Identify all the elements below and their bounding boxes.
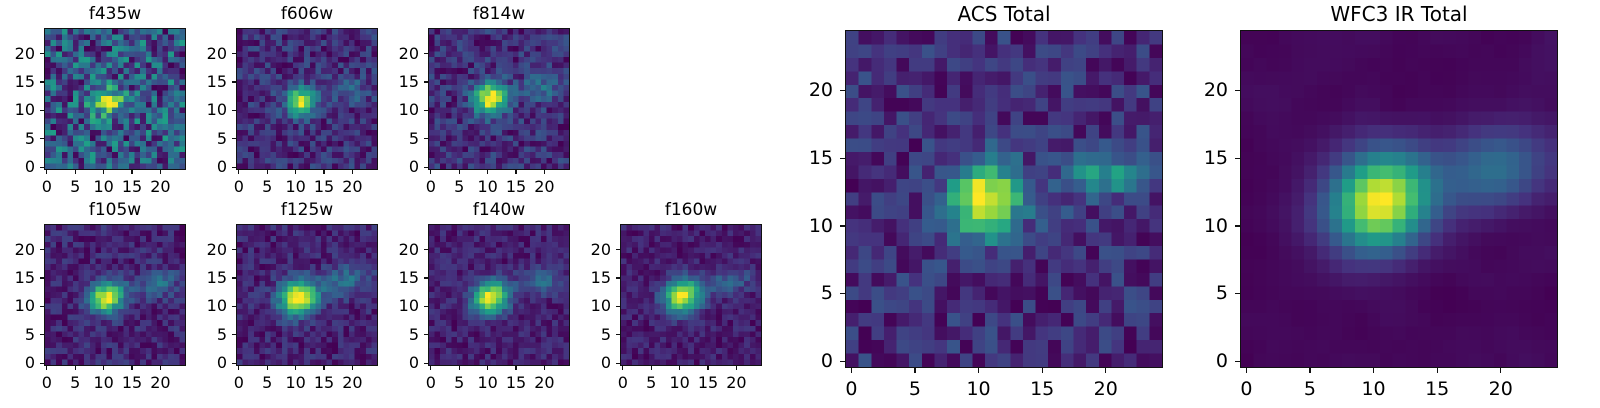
x-tick [295,170,296,174]
x-tick [352,170,353,174]
heatmap-axes [620,224,762,366]
heatmap-image [621,225,761,365]
y-tick-label: 5 [0,131,35,147]
x-tick [622,366,623,370]
x-tick-label: 5 [885,380,945,399]
y-tick [40,249,44,250]
panel-title: f160w [560,202,822,219]
x-tick [1437,368,1438,373]
x-tick [1500,368,1501,373]
y-tick [424,110,428,111]
y-tick-label: 20 [368,242,419,258]
x-tick [515,366,516,370]
y-tick-label: 5 [0,327,35,343]
x-tick [1373,368,1374,373]
y-tick [232,110,236,111]
x-tick [1042,368,1043,373]
x-tick [459,366,460,370]
heatmap-image [846,31,1162,367]
x-tick [323,366,324,370]
y-tick-label: 15 [0,270,35,286]
y-tick-label: 10 [176,298,227,314]
y-tick-label: 20 [176,242,227,258]
y-tick-label: 0 [1180,352,1228,371]
y-tick [40,53,44,54]
panel-title: WFC3 IR Total [1180,4,1600,24]
y-tick [424,306,428,307]
panel-wfc3-ir-total: WFC3 IR Total0510152005101520 [1180,0,1600,408]
x-tick-label: 20 [1471,380,1531,399]
heatmap-axes [845,30,1163,368]
y-tick-label: 10 [785,217,833,236]
y-tick-label: 5 [785,284,833,303]
heatmap-image [429,29,569,169]
y-tick-label: 20 [560,242,611,258]
x-tick [707,366,708,370]
y-tick-label: 15 [368,74,419,90]
y-tick [1235,90,1240,91]
x-tick [103,170,104,174]
y-tick [232,167,236,168]
x-tick [75,366,76,370]
x-tick [515,170,516,174]
heatmap-axes [1240,30,1558,368]
y-tick-label: 0 [560,355,611,371]
heatmap-image [1241,31,1557,367]
x-tick [914,368,915,373]
y-tick [1235,361,1240,362]
y-tick-label: 0 [0,159,35,175]
x-tick [46,170,47,174]
x-tick-label: 20 [514,179,574,195]
y-tick-label: 10 [368,102,419,118]
y-tick [616,363,620,364]
y-tick [232,363,236,364]
y-tick [424,81,428,82]
x-tick [160,170,161,174]
y-tick-label: 20 [176,46,227,62]
x-tick [267,170,268,174]
y-tick-label: 0 [785,352,833,371]
y-tick-label: 20 [0,242,35,258]
x-tick [131,170,132,174]
y-tick [616,334,620,335]
panel-acs-total: ACS Total0510152005101520 [785,0,1223,408]
y-tick [1235,225,1240,226]
panel-title: ACS Total [785,4,1223,24]
y-tick-label: 0 [0,355,35,371]
y-tick [1235,158,1240,159]
panel-title: f814w [368,6,630,23]
y-tick-label: 5 [176,327,227,343]
x-tick [487,170,488,174]
y-tick [40,110,44,111]
heatmap-axes [44,224,186,366]
x-tick-label: 20 [1076,380,1136,399]
heatmap-axes [428,224,570,366]
y-tick-label: 0 [176,355,227,371]
y-tick-label: 5 [1180,284,1228,303]
x-tick [544,170,545,174]
x-tick-label: 10 [1344,380,1404,399]
y-tick [232,334,236,335]
x-tick [978,368,979,373]
y-tick-label: 10 [0,298,35,314]
y-tick-label: 0 [368,159,419,175]
x-tick [238,170,239,174]
y-tick [840,225,845,226]
x-tick [238,366,239,370]
y-tick-label: 5 [560,327,611,343]
heatmap-axes [236,28,378,170]
y-tick [40,167,44,168]
y-tick [424,249,428,250]
y-tick-label: 15 [0,74,35,90]
y-tick [40,306,44,307]
y-tick-label: 15 [176,74,227,90]
x-tick-label: 15 [1407,380,1467,399]
y-tick-label: 10 [368,298,419,314]
y-tick-label: 0 [368,355,419,371]
y-tick [232,138,236,139]
panel-f160w: f160w0510152005101520 [560,194,822,406]
y-tick [232,306,236,307]
y-tick-label: 5 [176,131,227,147]
x-tick [430,170,431,174]
x-tick-label: 15 [1012,380,1072,399]
y-tick [840,90,845,91]
y-tick [424,53,428,54]
panel-f814w: f814w0510152005101520 [368,0,630,210]
x-tick [1309,368,1310,373]
x-tick [1105,368,1106,373]
x-tick [295,366,296,370]
y-tick-label: 10 [176,102,227,118]
y-tick [1235,293,1240,294]
y-tick-label: 5 [368,327,419,343]
y-tick [40,138,44,139]
x-tick-label: 10 [949,380,1009,399]
y-tick [232,81,236,82]
x-tick [1246,368,1247,373]
x-tick [75,170,76,174]
x-tick [651,366,652,370]
y-tick-label: 15 [560,270,611,286]
y-tick [424,363,428,364]
y-tick [424,167,428,168]
y-tick-label: 10 [0,102,35,118]
y-tick-label: 0 [176,159,227,175]
y-tick-label: 15 [1180,149,1228,168]
y-tick [232,277,236,278]
heatmap-image [429,225,569,365]
x-tick [487,366,488,370]
y-tick [232,249,236,250]
y-tick-label: 10 [1180,217,1228,236]
x-tick [544,366,545,370]
y-tick [616,277,620,278]
y-tick-label: 15 [368,270,419,286]
x-tick-label: 0 [821,380,881,399]
y-tick [424,138,428,139]
heatmap-image [237,225,377,365]
x-tick [679,366,680,370]
y-tick [40,81,44,82]
y-tick-label: 20 [1180,81,1228,100]
x-tick [160,366,161,370]
heatmap-axes [236,224,378,366]
y-tick [424,277,428,278]
y-tick-label: 15 [176,270,227,286]
y-tick [616,306,620,307]
x-tick-label: 0 [1216,380,1276,399]
y-tick [424,334,428,335]
x-tick [459,170,460,174]
heatmap-image [45,225,185,365]
x-tick [430,366,431,370]
y-tick [616,249,620,250]
y-tick [840,361,845,362]
x-tick [352,366,353,370]
y-tick [40,334,44,335]
y-tick [40,363,44,364]
y-tick-label: 15 [785,149,833,168]
x-tick [736,366,737,370]
heatmap-image [45,29,185,169]
y-tick [840,158,845,159]
y-tick-label: 5 [368,131,419,147]
y-tick-label: 20 [0,46,35,62]
y-tick [232,53,236,54]
y-tick-label: 10 [560,298,611,314]
y-tick-label: 20 [368,46,419,62]
x-tick [267,366,268,370]
heatmap-axes [44,28,186,170]
heatmap-axes [428,28,570,170]
x-tick-label: 5 [1280,380,1340,399]
heatmap-image [237,29,377,169]
x-tick [103,366,104,370]
x-tick [851,368,852,373]
x-tick-label: 20 [706,375,766,391]
y-tick [840,293,845,294]
y-tick-label: 20 [785,81,833,100]
y-tick [40,277,44,278]
x-tick [323,170,324,174]
x-tick [131,366,132,370]
x-tick [46,366,47,370]
